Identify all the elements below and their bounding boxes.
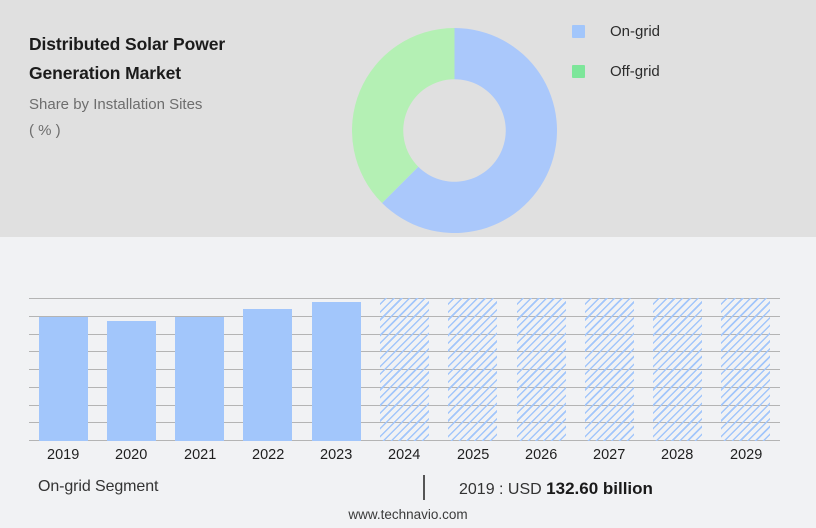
bar-2028[interactable]: [653, 298, 702, 441]
footer-value-prefix: 2019 : USD: [459, 481, 546, 498]
legend-item-off-grid[interactable]: Off-grid: [572, 58, 660, 84]
x-axis-label-2029: 2029: [712, 445, 780, 465]
chart-legend: On-grid Off-grid: [572, 18, 660, 98]
header-panel: Distributed Solar Power Generation Marke…: [0, 0, 816, 237]
bar-2022[interactable]: [243, 309, 292, 441]
donut-slice-off-grid[interactable]: [352, 28, 455, 203]
footer-value-highlight: 132.60 billion: [546, 479, 653, 498]
page-title-line-2: Generation Market: [29, 59, 329, 88]
legend-item-label: Off-grid: [610, 64, 660, 79]
page-units: ( % ): [29, 118, 329, 143]
x-axis-label-2022: 2022: [234, 445, 302, 465]
bar-2027[interactable]: [585, 298, 634, 441]
bar-chart: 2019202020212022202320242025202620272028…: [0, 237, 816, 469]
footer: On-grid Segment 2019 : USD 132.60 billio…: [0, 469, 816, 528]
bar-2019[interactable]: [39, 317, 88, 441]
footer-url: www.technavio.com: [0, 507, 816, 522]
x-axis-label-2025: 2025: [439, 445, 507, 465]
square-swatch-icon: [572, 65, 585, 78]
x-axis-label-2024: 2024: [370, 445, 438, 465]
page-title: Distributed Solar Power Generation Marke…: [29, 30, 329, 88]
x-axis-label-2019: 2019: [29, 445, 97, 465]
title-block: Distributed Solar Power Generation Marke…: [29, 30, 329, 143]
legend-item-label: On-grid: [610, 24, 660, 39]
x-axis-label-2028: 2028: [643, 445, 711, 465]
donut-chart-svg: [352, 28, 557, 233]
page-subtitle: Share by Installation Sites: [29, 92, 329, 118]
bar-2029[interactable]: [721, 298, 770, 441]
bar-2024[interactable]: [380, 298, 429, 441]
square-swatch-icon: [572, 25, 585, 38]
legend-item-on-grid[interactable]: On-grid: [572, 18, 660, 44]
bar-2025[interactable]: [448, 298, 497, 441]
page-title-line-1: Distributed Solar Power: [29, 30, 329, 59]
x-axis-label-2027: 2027: [575, 445, 643, 465]
x-axis-label-2020: 2020: [97, 445, 165, 465]
footer-value: 2019 : USD 132.60 billion: [459, 479, 653, 499]
bar-chart-bars: [29, 298, 780, 441]
x-axis-label-2021: 2021: [166, 445, 234, 465]
footer-segment-label: On-grid Segment: [38, 478, 158, 496]
bar-2023[interactable]: [312, 302, 361, 441]
bar-2026[interactable]: [517, 298, 566, 441]
donut-chart: [352, 28, 557, 233]
bar-2021[interactable]: [175, 317, 224, 441]
footer-divider: [423, 475, 425, 500]
x-axis-label-2023: 2023: [302, 445, 370, 465]
bar-chart-x-axis: 2019202020212022202320242025202620272028…: [29, 445, 780, 467]
bar-2020[interactable]: [107, 321, 156, 441]
x-axis-label-2026: 2026: [507, 445, 575, 465]
